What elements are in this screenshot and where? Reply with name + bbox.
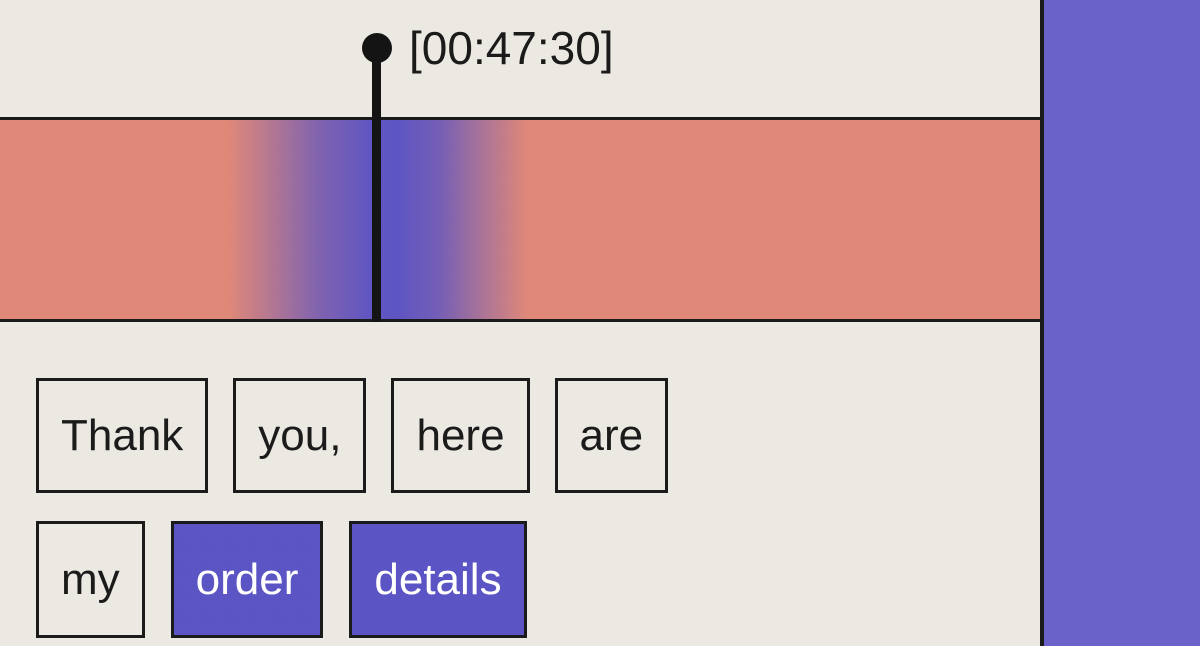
word-chip-label: details	[374, 558, 501, 602]
word-chip[interactable]: here	[391, 378, 529, 493]
word-chip[interactable]: you,	[233, 378, 366, 493]
transcript-row: Thank you, here are	[36, 378, 668, 493]
word-chip[interactable]: Thank	[36, 378, 208, 493]
timestamp-label: [00:47:30]	[409, 25, 614, 71]
timeline-band[interactable]	[0, 117, 1040, 322]
side-panel[interactable]	[1040, 0, 1200, 646]
word-chip[interactable]: my	[36, 521, 145, 638]
playhead-line	[372, 48, 381, 322]
word-chip[interactable]: are	[555, 378, 669, 493]
transcript-row: my order details	[36, 521, 527, 638]
word-chip-label: you,	[258, 414, 341, 458]
word-chip-label: Thank	[61, 414, 183, 458]
word-chip-label: order	[196, 558, 299, 602]
word-chip-label: here	[416, 414, 504, 458]
canvas: [00:47:30] Thank you, here are my order …	[0, 0, 1200, 646]
word-chip-label: are	[580, 414, 644, 458]
word-chip-label: my	[61, 558, 120, 602]
word-chip-highlighted[interactable]: details	[349, 521, 526, 638]
playhead[interactable]	[372, 33, 382, 322]
word-chip-highlighted[interactable]: order	[171, 521, 324, 638]
